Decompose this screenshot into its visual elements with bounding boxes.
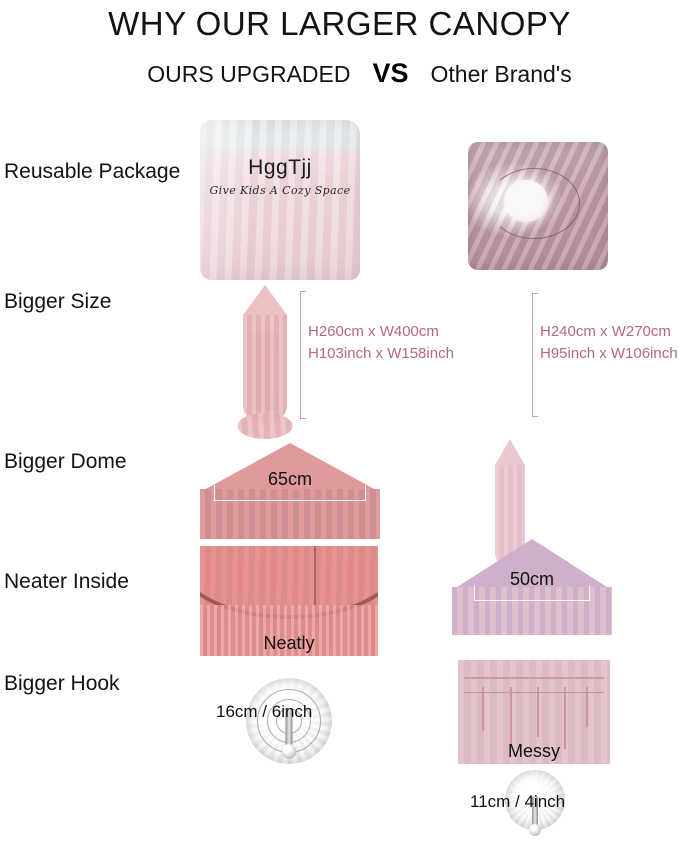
- canopy-skirt: [243, 315, 287, 423]
- ours-dome-image: 65cm: [200, 443, 380, 539]
- other-package-image: [468, 142, 608, 270]
- other-hook-image: 11cm / 4inch: [460, 770, 610, 856]
- row-reusable-package: Reusable Package HggTjj Give Kids A Cozy…: [0, 120, 679, 285]
- hook-knob: [282, 744, 297, 759]
- ours-inside-image: Neatly: [200, 546, 378, 656]
- ours-size-dimensions: H260cm x W400cm H103inch x W158inch: [308, 321, 454, 365]
- other-size-inch: H95inch x W106inch: [540, 343, 678, 365]
- other-column-label: Other Brand's: [431, 61, 572, 88]
- ours-dome-measure-label: 65cm: [200, 469, 380, 490]
- ours-hook-image: 16cm / 6inch: [200, 678, 378, 768]
- ours-column-label: OURS UPGRADED: [147, 61, 350, 88]
- comparison-header: OURS UPGRADED VS Other Brand's: [0, 58, 679, 89]
- canopy-hem: [238, 413, 293, 439]
- row-label-bigger-size: Bigger Size: [4, 290, 111, 314]
- row-label-bigger-dome: Bigger Dome: [4, 450, 127, 474]
- other-size-dimensions: H240cm x W270cm H95inch x W106inch: [540, 321, 678, 365]
- other-dome-measure-label: 50cm: [452, 569, 612, 590]
- row-label-reusable-package: Reusable Package: [4, 160, 180, 184]
- ours-size-cm: H260cm x W400cm: [308, 321, 454, 343]
- canopy-cone: [243, 285, 287, 315]
- page-title: WHY OUR LARGER CANOPY: [0, 0, 679, 42]
- ours-canopy-image: [205, 285, 325, 435]
- ours-inside-caption: Neatly: [200, 633, 378, 654]
- row-bigger-dome: Bigger Dome 65cm 50cm: [0, 443, 679, 543]
- row-label-bigger-hook: Bigger Hook: [4, 672, 120, 696]
- package-tagline-text: Give Kids A Cozy Space: [200, 184, 360, 197]
- other-size-cm: H240cm x W270cm: [540, 321, 678, 343]
- other-hook-measure-label: 11cm / 4inch: [470, 792, 565, 812]
- vs-label: VS: [372, 58, 408, 89]
- ours-size-inch: H103inch x W158inch: [308, 343, 454, 365]
- ours-hook-measure-label: 16cm / 6inch: [216, 702, 312, 722]
- ours-size-measure-line: [300, 291, 306, 419]
- row-label-neater-inside: Neater Inside: [4, 570, 129, 594]
- package-brand-text: HggTjj: [200, 156, 360, 180]
- row-bigger-size: Bigger Size H260cm x W400cm H103inch x W…: [0, 285, 679, 440]
- ours-package-image: HggTjj Give Kids A Cozy Space: [200, 120, 360, 280]
- inside-seam: [314, 546, 316, 612]
- row-neater-inside: Neater Inside Neatly Messy: [0, 546, 679, 658]
- other-inside-caption: Messy: [458, 741, 610, 762]
- other-size-measure-line: [532, 293, 538, 417]
- hook-knob: [529, 824, 541, 836]
